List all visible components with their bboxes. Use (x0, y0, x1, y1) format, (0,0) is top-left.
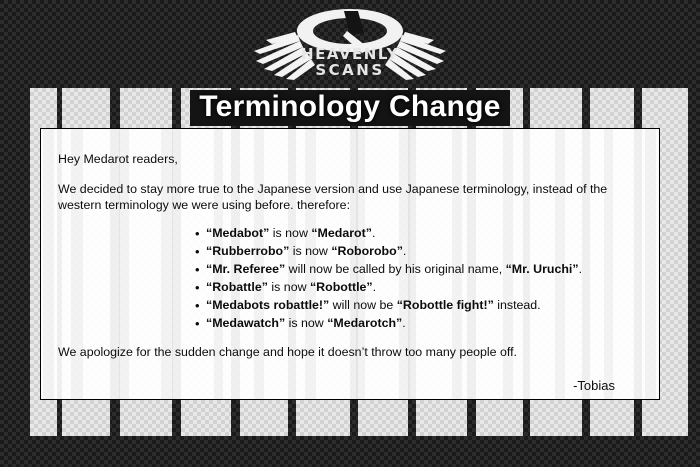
terminology-list-item: •“Mr. Referee” will now be called by his… (206, 261, 639, 278)
term-old: “Medabots robattle!” (206, 298, 329, 312)
terminology-list-item: •“Medabots robattle!” will now be “Robot… (206, 297, 639, 314)
bullet-icon: • (195, 243, 200, 260)
terminology-list-item: •“Robattle” is now “Robottle”. (206, 279, 639, 296)
announcement-panel: Hey Medarot readers, We decided to stay … (40, 128, 660, 400)
page-title: Terminology Change (0, 88, 700, 128)
terminology-list: •“Medabot” is now “Medarot”.•“Rubberrobo… (58, 225, 639, 332)
page-title-text: Terminology Change (190, 90, 510, 127)
signature: -Tobias (58, 377, 615, 394)
closing-paragraph: We apologize for the sudden change and h… (58, 344, 639, 361)
bullet-icon: • (195, 261, 200, 278)
announcement-body: Hey Medarot readers, We decided to stay … (41, 129, 659, 400)
intro-paragraph: We decided to stay more true to the Japa… (58, 181, 639, 214)
terminology-list-item: •“Rubberrobo” is now “Roborobo”. (206, 243, 639, 260)
term-suffix: . (403, 244, 406, 258)
term-suffix: instead. (494, 298, 541, 312)
term-connector: will now be called by his original name, (285, 262, 505, 276)
term-suffix: . (373, 280, 376, 294)
bullet-icon: • (195, 297, 200, 314)
logo-line2: SCANS (315, 61, 384, 79)
heavenly-scans-logo: HEAVENLY SCANS (0, 4, 700, 86)
winged-ring-icon: HEAVENLY SCANS (240, 5, 460, 85)
term-old: “Mr. Referee” (206, 262, 285, 276)
bullet-icon: • (195, 225, 200, 242)
term-new: “Robottle” (310, 280, 373, 294)
term-new: “Roborobo” (331, 244, 403, 258)
term-old: “Medabot” (206, 226, 269, 240)
bullet-icon: • (195, 279, 200, 296)
term-old: “Medawatch” (206, 316, 285, 330)
term-suffix: . (372, 226, 375, 240)
term-connector: is now (268, 280, 310, 294)
terminology-list-item: •“Medawatch” is now “Medarotch”. (206, 315, 639, 332)
term-new: “Mr. Uruchi” (506, 262, 579, 276)
term-suffix: . (579, 262, 582, 276)
logo-line1: HEAVENLY (301, 45, 399, 63)
term-connector: is now (285, 316, 327, 330)
term-suffix: . (402, 316, 405, 330)
term-new: “Medarotch” (327, 316, 402, 330)
term-old: “Rubberrobo” (206, 244, 289, 258)
greeting-paragraph: Hey Medarot readers, (58, 151, 639, 168)
term-connector: will now be (329, 298, 397, 312)
page-canvas: HEAVENLY SCANS Terminology Change Hey Me… (0, 0, 700, 467)
bullet-icon: • (195, 315, 200, 332)
terminology-list-item: •“Medabot” is now “Medarot”. (206, 225, 639, 242)
term-old: “Robattle” (206, 280, 268, 294)
term-new: “Medarot” (311, 226, 372, 240)
term-connector: is now (269, 226, 311, 240)
term-new: “Robottle fight!” (397, 298, 494, 312)
term-connector: is now (289, 244, 331, 258)
